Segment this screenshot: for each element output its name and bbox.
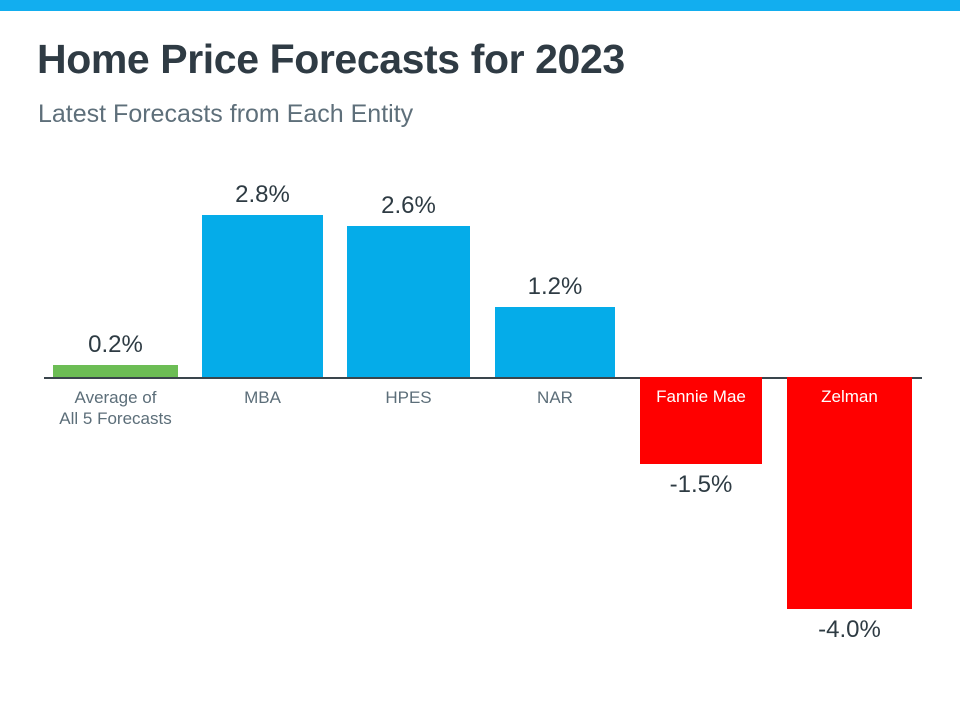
bar-group-nar[interactable]: 1.2%NAR	[495, 0, 615, 720]
value-label-nar: 1.2%	[495, 273, 615, 301]
bar-chart-plot-area: 0.2%Average ofAll 5 Forecasts2.8%MBA2.6%…	[0, 0, 960, 720]
bar-group-average-of-all-5-forecasts[interactable]: 0.2%Average ofAll 5 Forecasts	[53, 0, 178, 720]
bar-average-of-all-5-forecasts[interactable]	[53, 365, 178, 377]
category-label-line-1: Zelman	[787, 387, 912, 408]
value-label-fannie-mae: -1.5%	[640, 471, 762, 499]
bar-group-hpes[interactable]: 2.6%HPES	[347, 0, 470, 720]
category-label-line-2: All 5 Forecasts	[39, 409, 192, 430]
bar-hpes[interactable]	[347, 226, 470, 377]
value-label-zelman: -4.0%	[787, 616, 912, 644]
category-label-line-1: NAR	[481, 388, 629, 409]
slide-canvas: Home Price Forecasts for 2023 Latest For…	[0, 0, 960, 720]
category-label-hpes: HPES	[333, 388, 484, 409]
category-label-mba: MBA	[188, 388, 337, 409]
value-label-average-of-all-5-forecasts: 0.2%	[53, 331, 178, 359]
bar-nar[interactable]	[495, 307, 615, 377]
bar-group-zelman[interactable]: -4.0%Zelman	[787, 0, 912, 720]
category-label-line-1: Fannie Mae	[640, 387, 762, 408]
category-label-fannie-mae: Fannie Mae	[640, 387, 762, 408]
category-label-nar: NAR	[481, 388, 629, 409]
bar-group-mba[interactable]: 2.8%MBA	[202, 0, 323, 720]
value-label-mba: 2.8%	[202, 181, 323, 209]
bar-zelman[interactable]	[787, 377, 912, 609]
category-label-line-1: HPES	[333, 388, 484, 409]
bar-mba[interactable]	[202, 215, 323, 377]
category-label-line-1: MBA	[188, 388, 337, 409]
category-label-line-1: Average of	[39, 388, 192, 409]
category-label-zelman: Zelman	[787, 387, 912, 408]
value-label-hpes: 2.6%	[347, 192, 470, 220]
category-label-average-of-all-5-forecasts: Average ofAll 5 Forecasts	[39, 388, 192, 429]
bar-group-fannie-mae[interactable]: -1.5%Fannie Mae	[640, 0, 762, 720]
